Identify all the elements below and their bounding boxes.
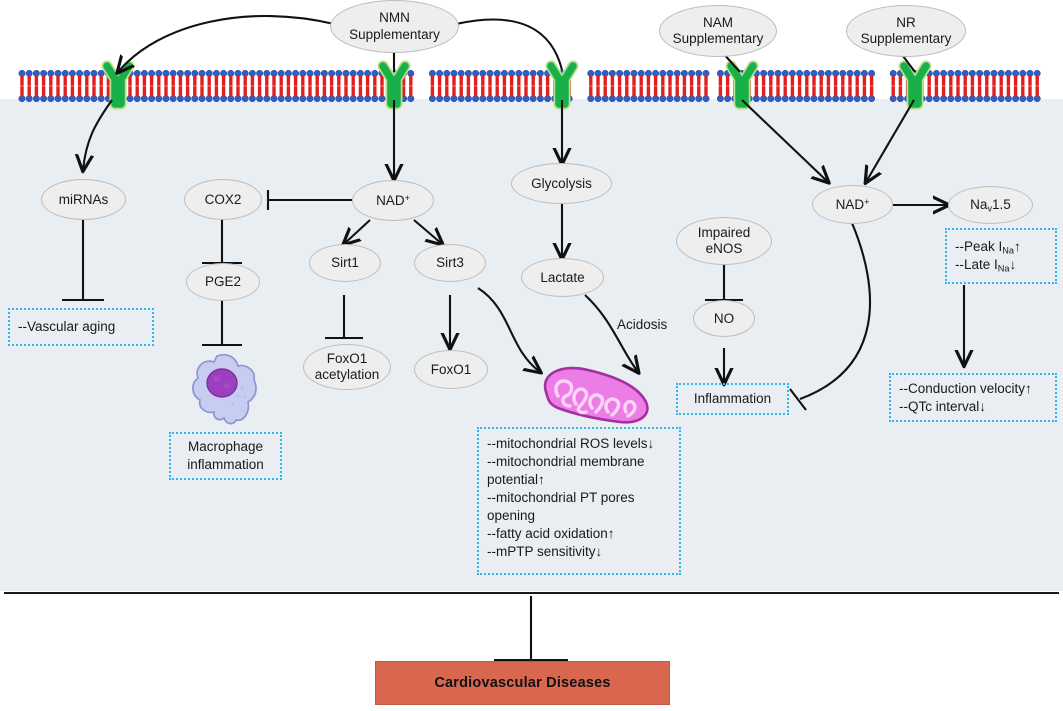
box-inflammation: Inflammation xyxy=(676,383,789,415)
macrophage-line-2: inflammation xyxy=(187,457,264,472)
box-cardiovascular-diseases: Cardiovascular Diseases xyxy=(375,661,670,705)
cardiovascular-diseases-label: Cardiovascular Diseases xyxy=(434,675,610,691)
mito-line-2: --mitochondrial membrane xyxy=(487,454,645,469)
mito-line-6: --fatty acid oxidation↑ xyxy=(487,526,615,541)
node-sirt1[interactable]: Sirt1 xyxy=(309,244,381,282)
node-lactate[interactable]: Lactate xyxy=(521,258,604,297)
box-mitochondria-effects: --mitochondrial ROS levels↓ --mitochondr… xyxy=(477,427,681,575)
cox2-label: COX2 xyxy=(205,192,242,207)
node-foxo1[interactable]: FoxO1 xyxy=(414,350,488,389)
nr-line-2: Supplementary xyxy=(861,31,952,46)
node-sirt3[interactable]: Sirt3 xyxy=(414,244,486,282)
mirnas-label: miRNAs xyxy=(59,192,109,207)
acidosis-label: Acidosis xyxy=(617,317,667,332)
box-macrophage-inflammation: Macrophage inflammation xyxy=(169,432,282,480)
peak-ina-text: --Peak INa↑ xyxy=(955,239,1021,254)
node-nmn-supplementary[interactable]: NMN Supplementary xyxy=(330,0,459,53)
conduction-line-1: --Conduction velocity↑ xyxy=(899,381,1032,396)
box-conduction: --Conduction velocity↑ --QTc interval↓ xyxy=(889,373,1057,422)
foxo1-label: FoxO1 xyxy=(431,362,472,377)
mitochondria-icon xyxy=(534,362,654,427)
foxo1-acet-line-2: acetylation xyxy=(315,367,380,382)
enos-line-1: Impaired xyxy=(698,225,751,240)
mito-line-5: opening xyxy=(487,508,535,523)
node-nam-supplementary[interactable]: NAM Supplementary xyxy=(659,5,777,57)
enos-line-2: eNOS xyxy=(706,241,743,256)
late-ina-text: --Late INa↓ xyxy=(955,257,1016,272)
nad-left-label: NAD+ xyxy=(376,193,410,208)
nad-right-label: NAD+ xyxy=(836,197,870,212)
mito-line-3: potential↑ xyxy=(487,472,545,487)
sirt1-label: Sirt1 xyxy=(331,255,359,270)
node-mirnas[interactable]: miRNAs xyxy=(41,179,126,220)
node-foxo1-acetylation[interactable]: FoxO1 acetylation xyxy=(303,344,391,390)
no-label: NO xyxy=(714,311,734,326)
nmn-line-1: NMN xyxy=(379,10,410,25)
sirt3-label: Sirt3 xyxy=(436,255,464,270)
nav15-label: Nav1.5 xyxy=(970,197,1011,214)
node-nav15[interactable]: Nav1.5 xyxy=(948,186,1033,224)
node-pge2[interactable]: PGE2 xyxy=(186,263,260,301)
section-divider xyxy=(4,592,1059,594)
pge2-label: PGE2 xyxy=(205,274,241,289)
foxo1-acet-line-1: FoxO1 xyxy=(327,351,368,366)
node-nad-right[interactable]: NAD+ xyxy=(812,185,893,224)
nam-line-1: NAM xyxy=(703,15,733,30)
node-glycolysis[interactable]: Glycolysis xyxy=(511,163,612,204)
mito-line-7: --mPTP sensitivity↓ xyxy=(487,544,602,559)
vascular-aging-text: --Vascular aging xyxy=(18,318,115,336)
nmn-line-2: Supplementary xyxy=(349,27,440,42)
node-cox2[interactable]: COX2 xyxy=(184,179,262,220)
macrophage-cell-icon xyxy=(186,352,260,434)
macrophage-line-1: Macrophage xyxy=(188,439,263,454)
nr-line-1: NR xyxy=(896,15,916,30)
mito-line-1: --mitochondrial ROS levels↓ xyxy=(487,436,654,451)
inflammation-text: Inflammation xyxy=(694,390,771,408)
node-no[interactable]: NO xyxy=(693,300,755,337)
box-sodium-current: --Peak INa↑ --Late INa↓ xyxy=(945,228,1057,284)
plasma-membrane xyxy=(18,70,1045,102)
node-nr-supplementary[interactable]: NR Supplementary xyxy=(846,5,966,57)
node-impaired-enos[interactable]: Impaired eNOS xyxy=(676,217,772,265)
conduction-line-2: --QTc interval↓ xyxy=(899,399,986,414)
pathway-diagram: NMN Supplementary NAM Supplementary NR S… xyxy=(0,0,1063,711)
nam-line-2: Supplementary xyxy=(673,31,764,46)
node-nad-left[interactable]: NAD+ xyxy=(352,180,434,221)
mito-line-4: --mitochondrial PT pores xyxy=(487,490,635,505)
lactate-label: Lactate xyxy=(540,270,584,285)
box-vascular-aging: --Vascular aging xyxy=(8,308,154,346)
glycolysis-label: Glycolysis xyxy=(531,176,592,191)
